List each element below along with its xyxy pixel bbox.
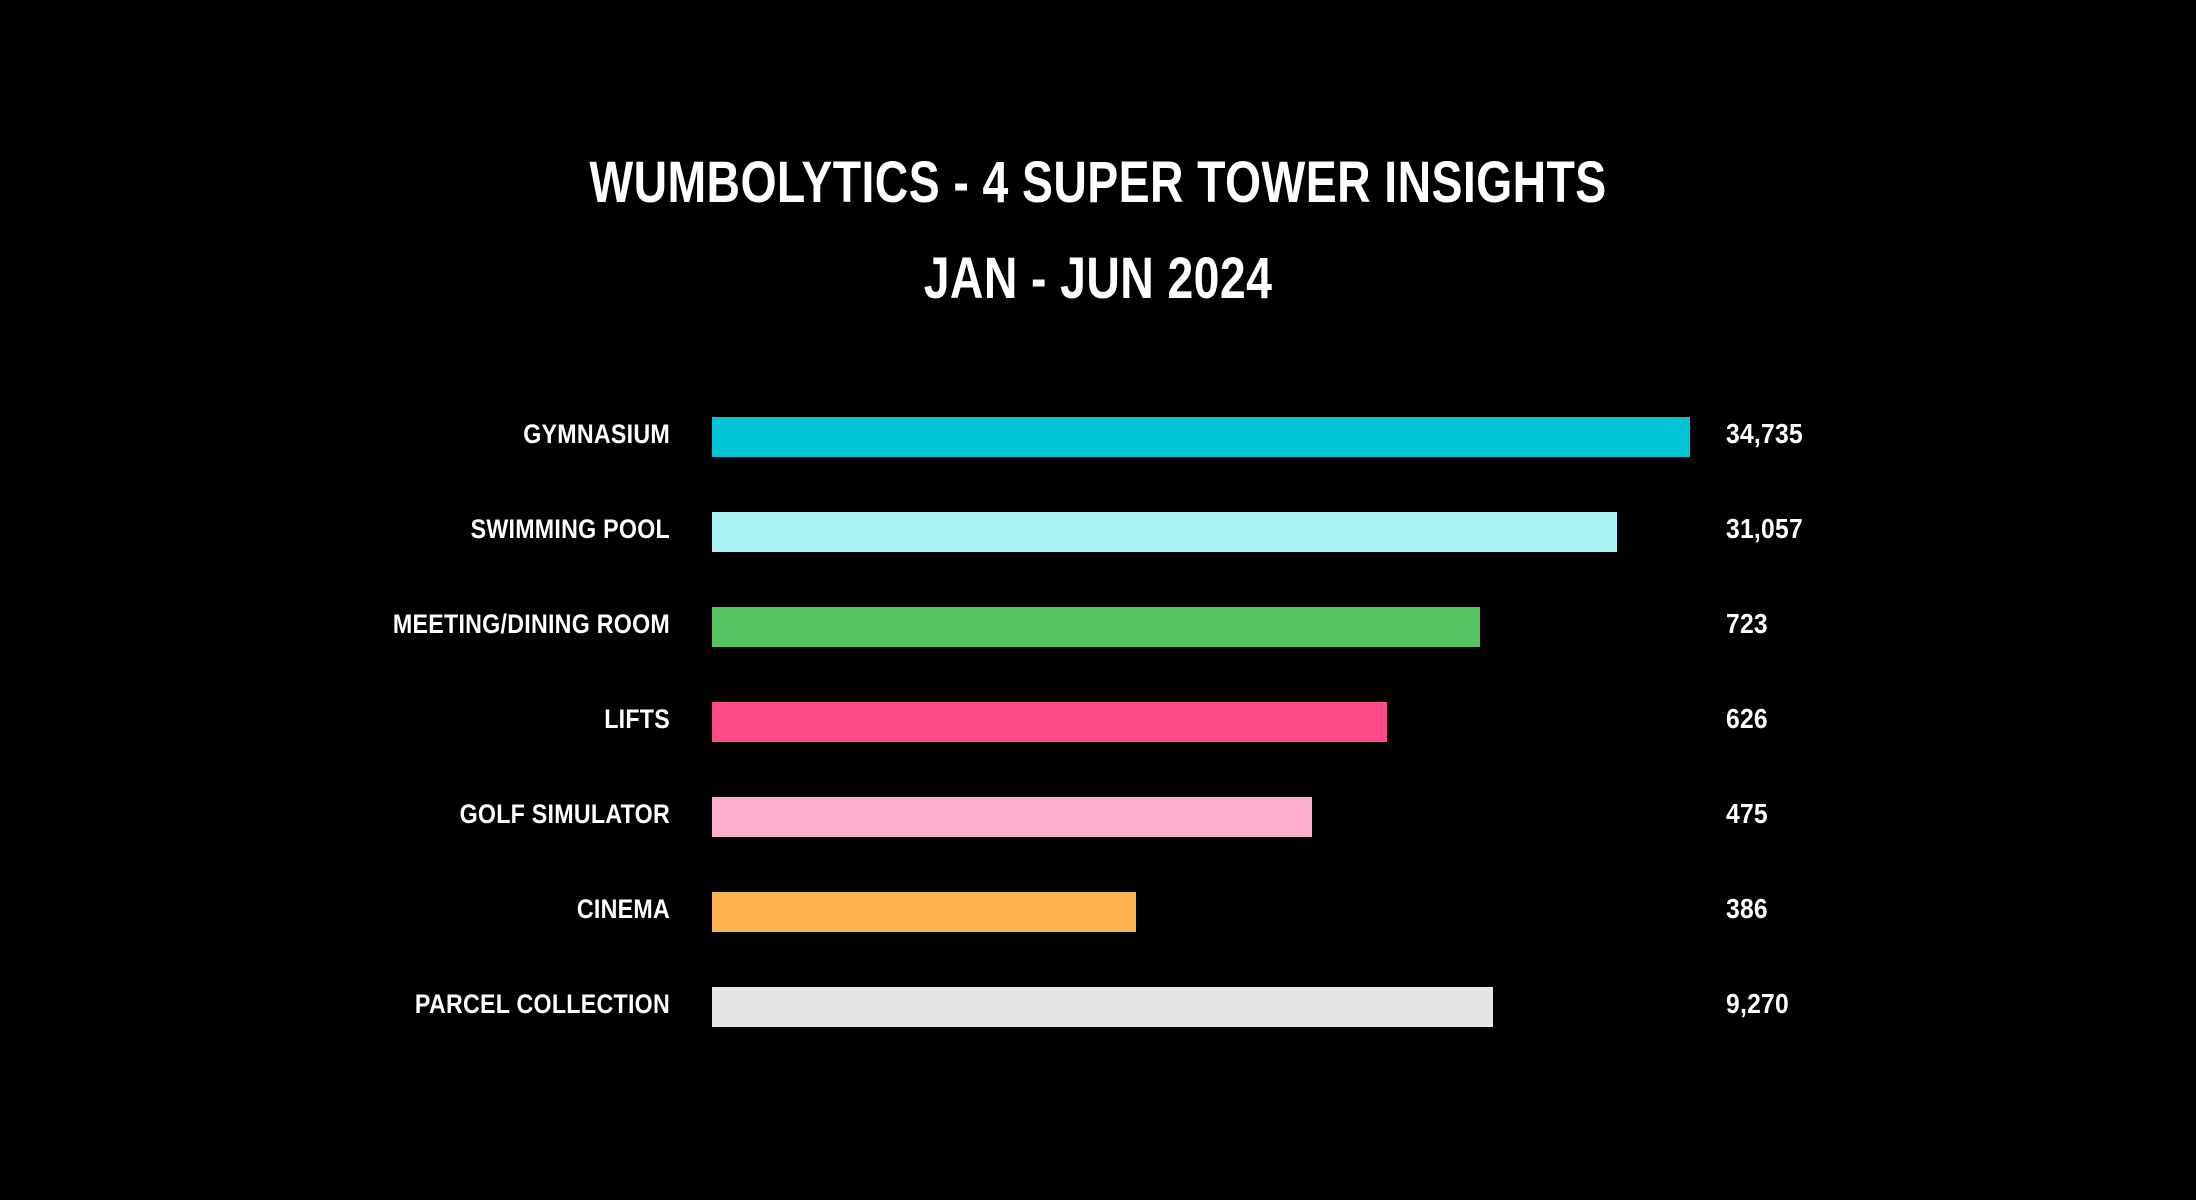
category-label: LIFTS <box>94 691 670 747</box>
category-label: SWIMMING POOL <box>94 501 670 557</box>
bar-track <box>712 987 1812 1027</box>
bar-row: MEETING/DINING ROOM723 <box>0 596 2196 691</box>
category-label: GYMNASIUM <box>94 406 670 462</box>
value-label: 626 <box>1726 691 1768 747</box>
value-label: 34,735 <box>1726 406 1803 462</box>
category-label: CINEMA <box>94 881 670 937</box>
chart-title-line-2: JAN - JUN 2024 <box>220 231 1977 327</box>
bar-meeting-dining-room[interactable] <box>712 607 1480 647</box>
category-label: MEETING/DINING ROOM <box>94 596 670 652</box>
value-label: 475 <box>1726 786 1768 842</box>
bar-lifts[interactable] <box>712 702 1387 742</box>
category-label: GOLF SIMULATOR <box>94 786 670 842</box>
bar-cinema[interactable] <box>712 892 1136 932</box>
bar-track <box>712 512 1812 552</box>
chart-root: WUMBOLYTICS - 4 SUPER TOWER INSIGHTS JAN… <box>0 0 2196 1200</box>
bar-swimming-pool[interactable] <box>712 512 1617 552</box>
bar-track <box>712 797 1812 837</box>
bar-row: SWIMMING POOL31,057 <box>0 501 2196 596</box>
bar-golf-simulator[interactable] <box>712 797 1312 837</box>
bar-track <box>712 417 1812 457</box>
chart-title-line-1: WUMBOLYTICS - 4 SUPER TOWER INSIGHTS <box>220 135 1977 231</box>
bar-track <box>712 702 1812 742</box>
value-label: 31,057 <box>1726 501 1803 557</box>
category-label: PARCEL COLLECTION <box>94 976 670 1032</box>
value-label: 723 <box>1726 596 1768 652</box>
bar-row: GOLF SIMULATOR475 <box>0 786 2196 881</box>
value-label: 9,270 <box>1726 976 1789 1032</box>
chart-title: WUMBOLYTICS - 4 SUPER TOWER INSIGHTS JAN… <box>0 135 2196 327</box>
chart-plot-area: GYMNASIUM34,735SWIMMING POOL31,057MEETIN… <box>0 406 2196 1086</box>
bar-row: PARCEL COLLECTION9,270 <box>0 976 2196 1071</box>
bar-row: GYMNASIUM34,735 <box>0 406 2196 501</box>
bar-row: LIFTS626 <box>0 691 2196 786</box>
bar-parcel-collection[interactable] <box>712 987 1493 1027</box>
value-label: 386 <box>1726 881 1768 937</box>
bar-gymnasium[interactable] <box>712 417 1690 457</box>
bar-row: CINEMA386 <box>0 881 2196 976</box>
bar-track <box>712 892 1812 932</box>
bar-track <box>712 607 1812 647</box>
